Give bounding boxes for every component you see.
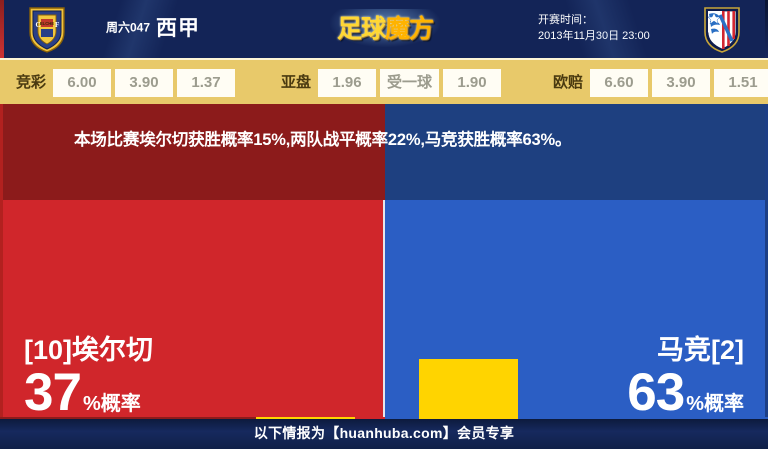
- summary-banner: 本场比赛埃尔切获胜概率15%,两队战平概率22%,马竞获胜概率63%。: [0, 104, 768, 200]
- odds-jingcai-away[interactable]: 1.37: [177, 69, 235, 97]
- kickoff-label: 开赛时间：: [538, 12, 650, 28]
- odds-bar: 竞彩 6.00 3.90 1.37 亚盘 1.96 受一球 1.90 欧赔 6.…: [0, 58, 768, 104]
- site-logo-part1: 足球: [337, 15, 385, 43]
- footer-bar: 以下情报为【huanhuba.com】会员专享: [0, 417, 768, 449]
- probability-chart-area: 本场比赛埃尔切获胜概率15%,两队战平概率22%,马竞获胜概率63%。 [10]…: [0, 104, 768, 417]
- odds-yapan-away[interactable]: 1.90: [443, 69, 501, 97]
- away-team-name: 马竞[2]: [627, 333, 744, 367]
- home-probability-unit: %概率: [83, 393, 141, 415]
- odds-label-oupei: 欧赔: [553, 69, 590, 97]
- odds-oupei-draw[interactable]: 3.90: [652, 69, 710, 97]
- away-probability-unit: %概率: [686, 393, 744, 415]
- odds-jingcai-home[interactable]: 6.00: [53, 69, 111, 97]
- odds-jingcai-draw[interactable]: 3.90: [115, 69, 173, 97]
- center-divider: [383, 200, 385, 417]
- odds-label-jingcai: 竞彩: [16, 69, 53, 97]
- away-probability-value: 63: [627, 363, 684, 422]
- odds-group-yapan: 亚盘 1.96 受一球 1.90: [281, 69, 501, 97]
- svg-text:F: F: [55, 21, 59, 29]
- odds-group-oupei: 欧赔 6.60 3.90 1.51: [553, 69, 768, 97]
- site-logo-part2: 魔方: [385, 15, 433, 43]
- svg-text:ELCHE: ELCHE: [40, 21, 54, 26]
- odds-yapan-handicap[interactable]: 受一球: [380, 69, 439, 97]
- atletico-madrid-crest-icon: [697, 5, 747, 54]
- odds-oupei-home[interactable]: 6.60: [590, 69, 648, 97]
- round-label: 周六047: [106, 21, 150, 35]
- site-logo[interactable]: 足球魔方: [330, 9, 440, 49]
- kickoff-time: 开赛时间： 2013年11月30日 23:00: [538, 12, 650, 44]
- odds-oupei-away[interactable]: 1.51: [714, 69, 768, 97]
- league-info: 周六047西甲: [106, 12, 200, 42]
- elche-cf-crest-icon: C F ELCHE: [22, 5, 72, 54]
- odds-yapan-home[interactable]: 1.96: [318, 69, 376, 97]
- odds-label-yapan: 亚盘: [281, 69, 318, 97]
- odds-group-jingcai: 竞彩 6.00 3.90 1.37: [16, 69, 235, 97]
- match-probability-infographic: C F ELCHE 周六047西甲 足球魔方 开赛时间： 2013年11月30日…: [0, 0, 768, 449]
- footer-text: 以下情报为【huanhuba.com】会员专享: [0, 417, 768, 449]
- summary-text: 本场比赛埃尔切获胜概率15%,两队战平概率22%,马竞获胜概率63%。: [74, 125, 714, 156]
- home-probability-value: 37: [24, 363, 81, 422]
- header-bar: C F ELCHE 周六047西甲 足球魔方 开赛时间： 2013年11月30日…: [0, 0, 768, 58]
- left-edge-stripe: [0, 104, 3, 417]
- kickoff-value: 2013年11月30日 23:00: [538, 28, 650, 44]
- header-left-accent: [0, 0, 4, 58]
- home-team-name: [10]埃尔切: [24, 333, 153, 367]
- league-name: 西甲: [156, 17, 200, 40]
